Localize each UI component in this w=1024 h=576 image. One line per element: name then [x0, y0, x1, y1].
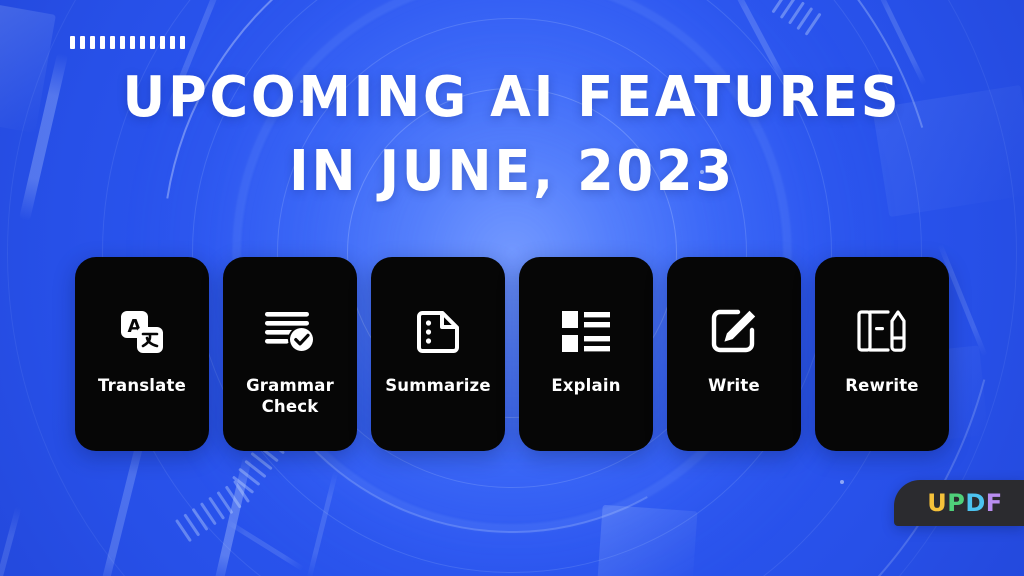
- decor-speck-3: [840, 480, 844, 484]
- updf-brand-badge[interactable]: U P D F: [894, 480, 1024, 526]
- summarize-icon: [409, 303, 467, 361]
- feature-card-row: A Translate: [75, 257, 949, 451]
- updf-letter-f: F: [986, 489, 1003, 517]
- feature-label-line-1: Explain: [525, 375, 647, 396]
- feature-card-label: Summarize: [377, 375, 499, 396]
- decor-dash-row: [70, 36, 185, 49]
- title-line-2: IN JUNE, 2023: [31, 144, 994, 200]
- feature-card-rewrite[interactable]: Rewrite: [815, 257, 949, 451]
- explain-icon: [557, 303, 615, 361]
- feature-label-line-1: Rewrite: [821, 375, 943, 396]
- poster-canvas: UPCOMING AI FEATURES IN JUNE, 2023 A Tra…: [0, 0, 1024, 576]
- updf-letter-u: U: [927, 489, 947, 517]
- feature-label-line-2: Check: [229, 396, 351, 417]
- updf-wordmark: U P D F: [915, 489, 1002, 517]
- feature-label-line-1: Write: [673, 375, 795, 396]
- feature-card-label: Translate: [81, 375, 203, 396]
- feature-card-translate[interactable]: A Translate: [75, 257, 209, 451]
- feature-card-explain[interactable]: Explain: [519, 257, 653, 451]
- feature-card-label: Rewrite: [821, 375, 943, 396]
- rewrite-icon: [853, 303, 911, 361]
- translate-icon: A: [113, 303, 171, 361]
- feature-card-label: Explain: [525, 375, 647, 396]
- updf-letter-d: D: [965, 489, 985, 517]
- feature-card-grammar-check[interactable]: Grammar Check: [223, 257, 357, 451]
- grammar-check-icon: [261, 303, 319, 361]
- feature-card-summarize[interactable]: Summarize: [371, 257, 505, 451]
- title-line-1: UPCOMING AI FEATURES: [31, 70, 994, 126]
- feature-card-label: Write: [673, 375, 795, 396]
- feature-card-write[interactable]: Write: [667, 257, 801, 451]
- poster-title: UPCOMING AI FEATURES IN JUNE, 2023: [0, 70, 1024, 200]
- feature-label-line-1: Summarize: [377, 375, 499, 396]
- feature-label-line-1: Translate: [81, 375, 203, 396]
- write-icon: [705, 303, 763, 361]
- feature-card-label: Grammar Check: [229, 375, 351, 417]
- decor-block-2: [597, 505, 697, 576]
- updf-letter-p: P: [947, 489, 965, 517]
- feature-label-line-1: Grammar: [229, 375, 351, 396]
